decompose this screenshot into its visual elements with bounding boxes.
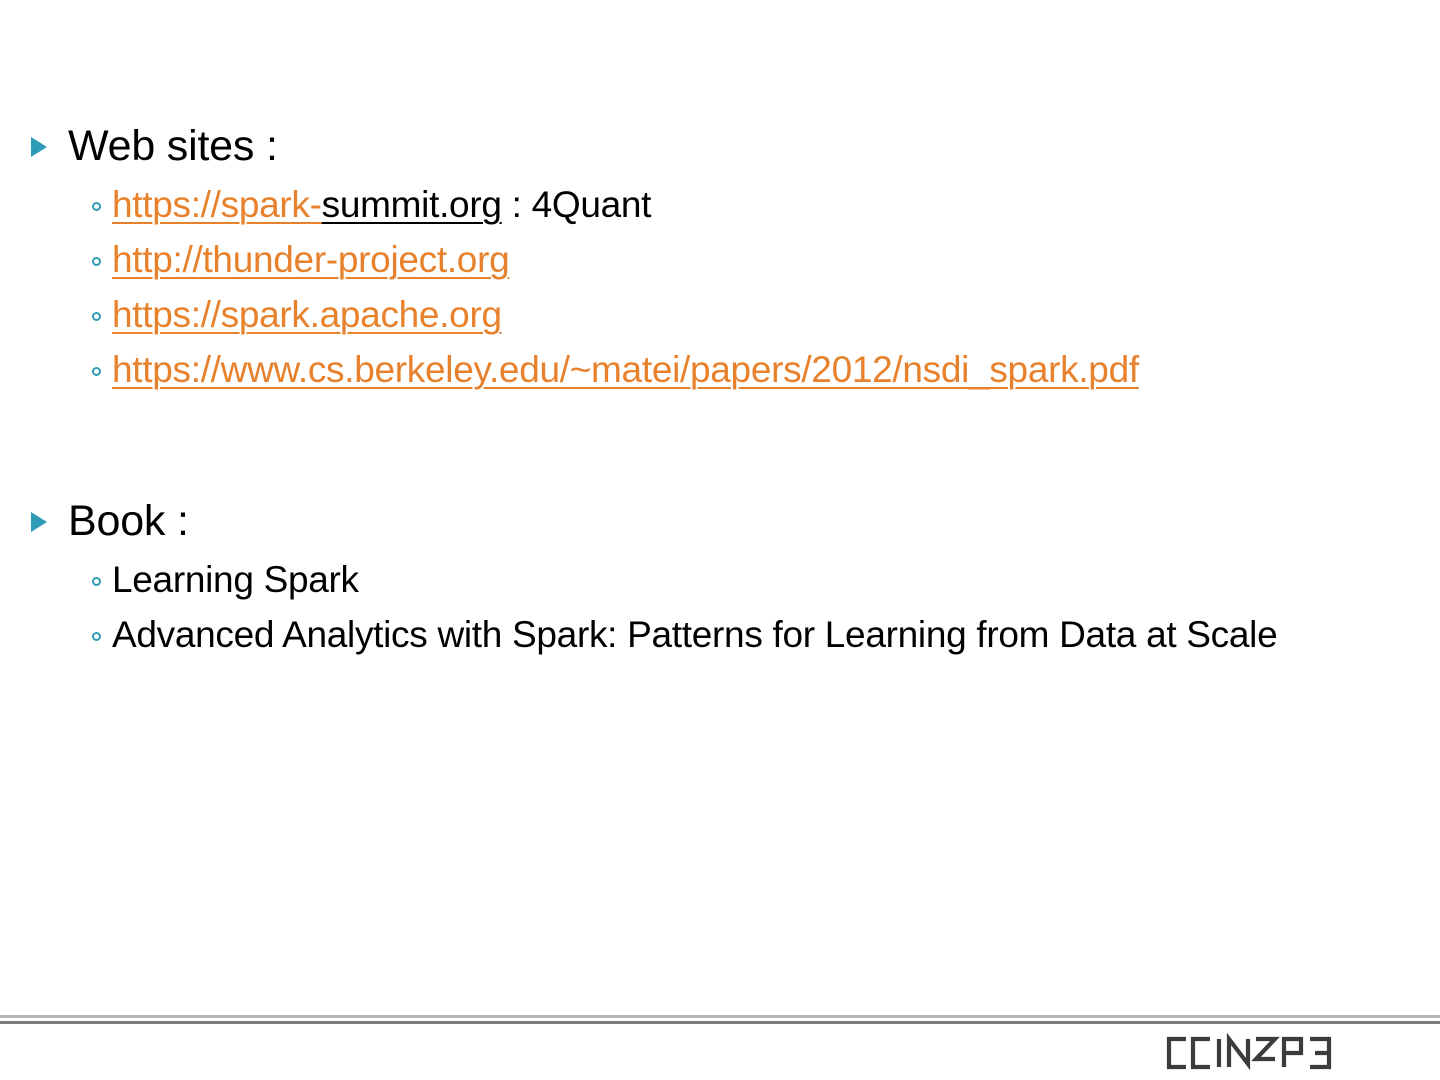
- list-item: Advanced Analytics with Spark: Patterns …: [0, 608, 1440, 663]
- link-suffix-4quant: : 4Quant: [502, 184, 652, 225]
- circle-bullet-icon: [92, 577, 101, 586]
- link-spark-apache-wrapper: https://spark.apache.org: [112, 288, 1420, 342]
- triangle-bullet-icon: [31, 137, 47, 157]
- circle-bullet-icon: [92, 202, 101, 211]
- link-nsdi-spark-pdf[interactable]: https://www.cs.berkeley.edu/~matei/paper…: [112, 349, 1139, 390]
- book-title-learning-spark: Learning Spark: [112, 553, 1420, 607]
- link-nsdi-spark-pdf-wrapper: https://www.cs.berkeley.edu/~matei/paper…: [112, 343, 1420, 397]
- link-part-summit-org[interactable]: summit.org: [322, 184, 502, 225]
- link-spark-apache[interactable]: https://spark.apache.org: [112, 294, 502, 335]
- bullet-level1-book: Book :: [0, 493, 1440, 551]
- list-item: Learning Spark: [0, 553, 1440, 608]
- list-item[interactable]: https://www.cs.berkeley.edu/~matei/paper…: [0, 343, 1440, 398]
- ccin2p3-logo: [1163, 1031, 1343, 1075]
- circle-bullet-icon: [92, 312, 101, 321]
- footer-divider-upper: [0, 1015, 1440, 1018]
- footer-divider-lower: [0, 1021, 1440, 1024]
- slide-content-body: Web sites : https://spark-summit.org : 4…: [0, 118, 1440, 663]
- triangle-bullet-icon: [31, 512, 47, 532]
- link-part-protocol-host[interactable]: https://spark-: [112, 184, 322, 225]
- circle-bullet-icon: [92, 367, 101, 376]
- link-thunder-project[interactable]: http://thunder-project.org: [112, 239, 509, 280]
- list-item[interactable]: http://thunder-project.org: [0, 233, 1440, 288]
- section-heading-book: Book :: [68, 493, 189, 549]
- circle-bullet-icon: [92, 632, 101, 641]
- list-item[interactable]: https://spark-summit.org : 4Quant: [0, 178, 1440, 233]
- link-spark-summit: https://spark-summit.org : 4Quant: [112, 178, 1420, 232]
- circle-bullet-icon: [92, 257, 101, 266]
- section-spacer: [0, 398, 1440, 493]
- section-heading-web-sites: Web sites :: [68, 118, 278, 174]
- book-title-advanced-analytics: Advanced Analytics with Spark: Patterns …: [112, 608, 1420, 662]
- slide-canvas: Web sites : https://spark-summit.org : 4…: [0, 0, 1440, 1080]
- link-thunder-project-wrapper: http://thunder-project.org: [112, 233, 1420, 287]
- bullet-level1-web-sites: Web sites :: [0, 118, 1440, 176]
- list-item[interactable]: https://spark.apache.org: [0, 288, 1440, 343]
